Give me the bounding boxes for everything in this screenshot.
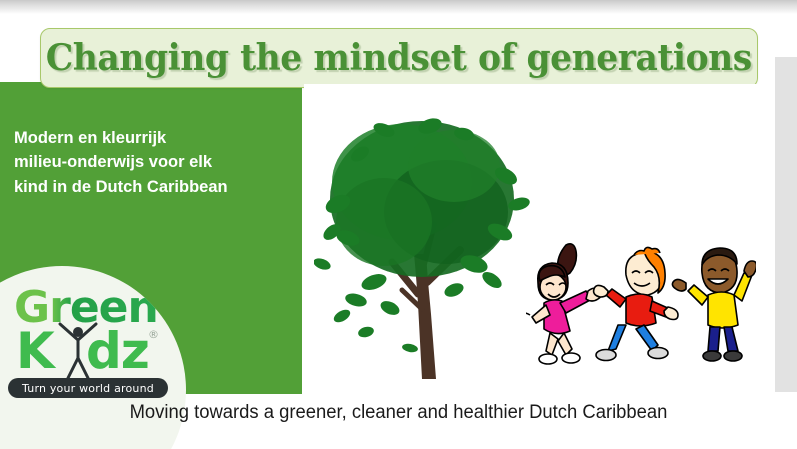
panel-heading: Modern en kleurrijk milieu-onderwijs voo… bbox=[14, 126, 296, 199]
children-illustration bbox=[526, 239, 756, 374]
right-grey-band bbox=[775, 57, 797, 392]
child-girl-pink bbox=[526, 244, 602, 364]
slide-caption: Moving towards a greener, cleaner and he… bbox=[12, 402, 785, 424]
panel-heading-line-1: Modern en kleurrijk bbox=[14, 126, 296, 150]
tree-illustration bbox=[314, 104, 544, 379]
child-boy-red bbox=[594, 247, 678, 360]
logo-tagline-text: Turn your world around bbox=[22, 382, 154, 395]
panel-heading-line-3: kind in de Dutch Caribbean bbox=[14, 175, 296, 199]
logo-letter-k: K bbox=[16, 322, 55, 380]
illustration-area bbox=[304, 84, 762, 394]
top-gradient-strip bbox=[0, 0, 797, 14]
child-boy-yellow bbox=[672, 248, 756, 361]
logo-tagline-pill: Turn your world around bbox=[8, 378, 168, 398]
panel-heading-line-2: milieu-onderwijs voor elk bbox=[14, 150, 296, 174]
page-title: Changing the mindset of generations bbox=[46, 40, 752, 76]
title-banner: Changing the mindset of generations bbox=[40, 28, 758, 88]
stick-figure-icon bbox=[56, 322, 100, 380]
registered-trademark-icon: ® bbox=[148, 328, 159, 341]
slide-canvas: Changing the mindset of generations Mode… bbox=[0, 0, 797, 449]
